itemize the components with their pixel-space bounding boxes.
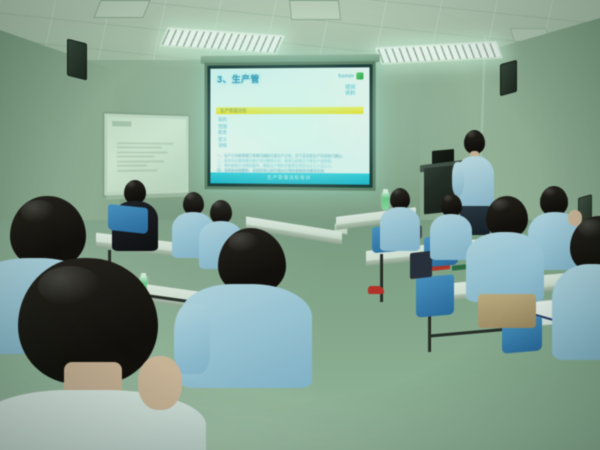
hair-highlight [444, 195, 454, 202]
chair-back [416, 274, 454, 317]
projection-screen: 3、生产管 honor 培训 资料 生产管理流程 目的 范围 职责 定义 [205, 61, 376, 191]
presenter-arm [452, 162, 464, 196]
slide-footer-text: 生产管理流程培训 [267, 174, 311, 180]
screen-frame: 3、生产管 honor 培训 资料 生产管理流程 目的 范围 职责 定义 [205, 61, 376, 191]
glasses-icon [540, 198, 568, 202]
torso [466, 232, 544, 302]
hair-highlight [186, 193, 196, 200]
hand [138, 356, 182, 410]
glasses-icon [464, 140, 485, 144]
classroom-photo: 3、生产管 honor 培训 资料 生产管理流程 目的 范围 职责 定义 [0, 0, 600, 450]
hair-highlight [393, 189, 402, 196]
slide-sub-line: 资料 [345, 91, 355, 97]
hair-highlight [467, 131, 477, 139]
wall-speaker-icon [67, 39, 87, 81]
attendee-front-white-shirt [0, 258, 206, 450]
chair-seat [410, 251, 432, 279]
hair-highlight [21, 200, 56, 223]
attendee-right-front-blue [466, 196, 544, 314]
logo-mark-icon [356, 72, 363, 79]
hair-highlight [492, 199, 511, 212]
slide-footer-bar: 生产管理流程培训 [210, 172, 369, 184]
trousers [478, 294, 536, 328]
hair-highlight [127, 181, 137, 189]
torso [380, 207, 420, 251]
air-vent-icon [289, 0, 341, 20]
desk-leg [380, 254, 383, 302]
slide-subheading: 培训 资料 [345, 85, 355, 97]
air-vent-icon [93, 0, 150, 18]
chair-back [108, 204, 148, 234]
hair-highlight [578, 219, 600, 238]
slide-highlight-text: 生产管理流程 [220, 108, 246, 114]
slide-bullet-list: 目的 范围 职责 定义 流程 [218, 117, 359, 150]
hair-highlight [38, 266, 102, 306]
slide-bullet: 流程 [218, 143, 359, 150]
hair-highlight [544, 188, 557, 198]
slide-highlight-bar: 生产管理流程 [216, 107, 363, 114]
attendee-right-far-blue [380, 188, 420, 248]
slide-title: 3、生产管 [217, 72, 260, 85]
whiteboard-label [112, 121, 131, 127]
wall-speaker-icon [500, 60, 517, 97]
whiteboard-writing [117, 143, 180, 175]
hair-highlight [228, 232, 259, 253]
hair-highlight [213, 201, 223, 209]
presentation-slide: 3、生产管 honor 培训 资料 生产管理流程 目的 范围 职责 定义 [210, 67, 369, 184]
red-shoe [368, 286, 384, 294]
torso [552, 264, 600, 360]
slide-logo: honor [339, 72, 364, 79]
attendee-far-right-blue [564, 300, 600, 450]
logo-text: honor [339, 73, 355, 79]
